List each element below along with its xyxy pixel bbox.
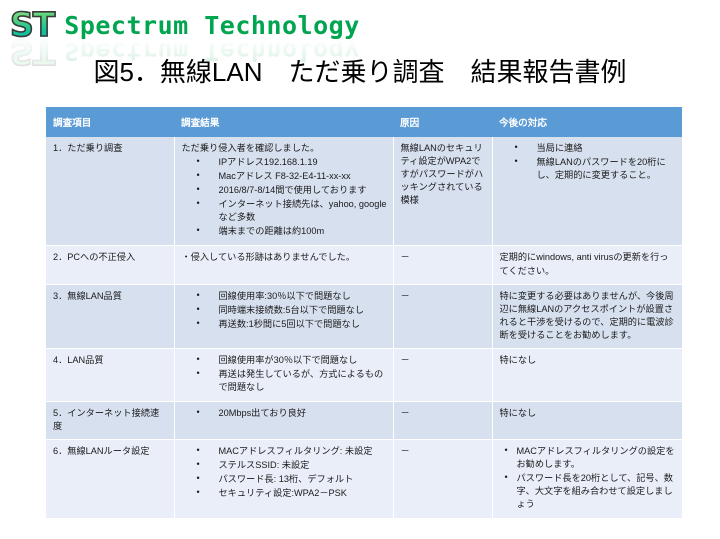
cell-cause: 無線LANのセキュリティ設定がWPA2ですがパスワードがハッキングされている模様 bbox=[393, 137, 492, 246]
cell-action: 特になし bbox=[492, 402, 682, 440]
result-bullet-list: 回線使用率が30％以下で問題なし 再送は発生しているが、方式によるもので問題なし bbox=[182, 354, 387, 394]
table-row: 1．ただ乗り調査 ただ乗り侵入者を確認しました。 IPアドレス192.168.1… bbox=[46, 137, 682, 246]
survey-result-table: 調査項目 調査結果 原因 今後の対応 1．ただ乗り調査 ただ乗り侵入者を確認しま… bbox=[46, 107, 682, 519]
list-item: Macアドレス F8-32-E4-11-xx-xx bbox=[197, 170, 387, 183]
list-item: セキュリティ設定:WPA2－PSK bbox=[197, 487, 387, 500]
list-item: パスワード長: 13桁、デフォルト bbox=[197, 473, 387, 486]
cell-cause: － bbox=[393, 402, 492, 440]
list-item: 当局に連絡 bbox=[515, 142, 677, 155]
result-bullet-list: 20Mbps出ており良好 bbox=[182, 407, 387, 420]
logo-wordmark: Spectrum Technology bbox=[56, 4, 359, 38]
cell-cause: － bbox=[393, 246, 492, 284]
list-item: 回線使用率が30％以下で問題なし bbox=[197, 354, 387, 367]
list-item: 同時端末接続数:5台以下で問題なし bbox=[197, 304, 387, 317]
cell-item: 4．LAN品質 bbox=[46, 348, 174, 401]
logo-mark-icon: ST bbox=[6, 4, 56, 41]
action-text: 特になし bbox=[500, 407, 677, 420]
list-item: パスワード長を20桁として、記号、数字、大文字を組み合わせて設定しましょう bbox=[505, 472, 677, 511]
cell-item: 1．ただ乗り調査 bbox=[46, 137, 174, 246]
cell-result: ・侵入している形跡はありませんでした。 bbox=[174, 246, 393, 284]
cell-action: 定期的にwindows, anti virusの更新を行ってください。 bbox=[492, 246, 682, 284]
list-item: ステルスSSID: 未設定 bbox=[197, 459, 387, 472]
list-item: IPアドレス192.168.1.19 bbox=[197, 156, 387, 169]
action-bullet-list: 当局に連絡 無線LANのパスワードを20桁にし、定期的に変更すること。 bbox=[500, 142, 677, 182]
page-title: 図5．無線LAN ただ乗り調査 結果報告書例 bbox=[0, 52, 720, 89]
table-header-row: 調査項目 調査結果 原因 今後の対応 bbox=[46, 107, 682, 137]
column-header-item: 調査項目 bbox=[46, 107, 174, 137]
result-bullet-list: 回線使用率:30％以下で問題なし 同時端末接続数:5台以下で問題なし 再送数:1… bbox=[182, 290, 387, 331]
result-bullet-list: IPアドレス192.168.1.19 Macアドレス F8-32-E4-11-x… bbox=[182, 156, 387, 238]
list-item: 2016/8/7-8/14間で使用しております bbox=[197, 184, 387, 197]
action-bullet-list: MACアドレスフィルタリングの設定をお勧めします。 パスワード長を20桁として、… bbox=[500, 445, 677, 511]
cell-item: 3．無線LAN品質 bbox=[46, 284, 174, 348]
cell-result: 回線使用率が30％以下で問題なし 再送は発生しているが、方式によるもので問題なし bbox=[174, 348, 393, 401]
cell-item: 6．無線LANルータ設定 bbox=[46, 440, 174, 519]
cell-action: MACアドレスフィルタリングの設定をお勧めします。 パスワード長を20桁として、… bbox=[492, 440, 682, 519]
result-intro: ただ乗り侵入者を確認しました。 bbox=[182, 142, 387, 155]
cell-action: 特に変更する必要はありませんが、今後周辺に無線LANのアクセスポイントが設置され… bbox=[492, 284, 682, 348]
column-header-action: 今後の対応 bbox=[492, 107, 682, 137]
list-item: 無線LANのパスワードを20桁にし、定期的に変更すること。 bbox=[515, 156, 677, 182]
table-row: 3．無線LAN品質 回線使用率:30％以下で問題なし 同時端末接続数:5台以下で… bbox=[46, 284, 682, 348]
cell-result: MACアドレスフィルタリング: 未設定 ステルスSSID: 未設定 パスワード長… bbox=[174, 440, 393, 519]
list-item: 再送数:1秒間に5回以下で問題なし bbox=[197, 318, 387, 331]
cell-result: 回線使用率:30％以下で問題なし 同時端末接続数:5台以下で問題なし 再送数:1… bbox=[174, 284, 393, 348]
cell-cause: － bbox=[393, 440, 492, 519]
action-text: 特になし bbox=[500, 354, 677, 367]
cell-item: 5．インターネット接続速度 bbox=[46, 402, 174, 440]
list-item: 回線使用率:30％以下で問題なし bbox=[197, 290, 387, 303]
column-header-result: 調査結果 bbox=[174, 107, 393, 137]
cell-cause: － bbox=[393, 348, 492, 401]
result-bullet-list: MACアドレスフィルタリング: 未設定 ステルスSSID: 未設定 パスワード長… bbox=[182, 445, 387, 500]
list-item: MACアドレスフィルタリング: 未設定 bbox=[197, 445, 387, 458]
list-item: 20Mbps出ており良好 bbox=[197, 407, 387, 420]
brand-logo: ST Spectrum Technology bbox=[6, 4, 360, 52]
list-item: 端末までの距離は約100m bbox=[197, 225, 387, 238]
action-text: 定期的にwindows, anti virusの更新を行ってください。 bbox=[500, 251, 677, 277]
list-item: インターネット接続先は、yahoo, google など多数 bbox=[197, 198, 387, 224]
cell-item: 2．PCへの不正侵入 bbox=[46, 246, 174, 284]
table-row: 6．無線LANルータ設定 MACアドレスフィルタリング: 未設定 ステルスSSI… bbox=[46, 440, 682, 519]
list-item: MACアドレスフィルタリングの設定をお勧めします。 bbox=[505, 445, 677, 471]
list-item: 再送は発生しているが、方式によるもので問題なし bbox=[197, 368, 387, 394]
cell-result: 20Mbps出ており良好 bbox=[174, 402, 393, 440]
cell-action: 特になし bbox=[492, 348, 682, 401]
cell-action: 当局に連絡 無線LANのパスワードを20桁にし、定期的に変更すること。 bbox=[492, 137, 682, 246]
cell-cause: － bbox=[393, 284, 492, 348]
table-row: 4．LAN品質 回線使用率が30％以下で問題なし 再送は発生しているが、方式によ… bbox=[46, 348, 682, 401]
result-text: ・侵入している形跡はありませんでした。 bbox=[182, 251, 387, 264]
table-row: 5．インターネット接続速度 20Mbps出ており良好 － 特になし bbox=[46, 402, 682, 440]
cell-result: ただ乗り侵入者を確認しました。 IPアドレス192.168.1.19 Macアド… bbox=[174, 137, 393, 246]
table-row: 2．PCへの不正侵入 ・侵入している形跡はありませんでした。 － 定期的にwin… bbox=[46, 246, 682, 284]
column-header-cause: 原因 bbox=[393, 107, 492, 137]
action-text: 特に変更する必要はありませんが、今後周辺に無線LANのアクセスポイントが設置され… bbox=[500, 290, 677, 342]
